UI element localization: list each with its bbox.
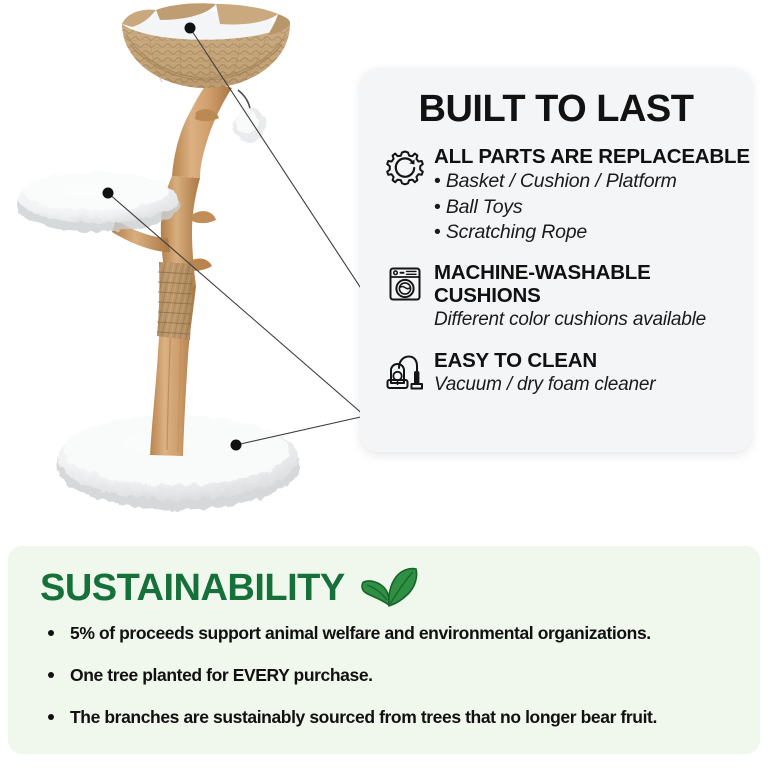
feature-text: MACHINE-WASHABLE CUSHIONS Different colo… xyxy=(434,262,752,332)
washing-machine-icon xyxy=(382,264,428,310)
gear-replace-icon xyxy=(382,148,428,194)
built-to-last-card: BUILT TO LAST ALL PARTS ARE REPLACEABLE … xyxy=(360,68,752,452)
sublist-item: Ball Toys xyxy=(434,195,750,221)
sustainability-title: SUSTAINABILITY xyxy=(40,569,345,607)
vacuum-cleaner-icon xyxy=(382,352,428,398)
feature-machine-washable-cushions: MACHINE-WASHABLE CUSHIONS Different colo… xyxy=(382,262,752,332)
feature-easy-to-clean: EASY TO CLEAN Vacuum / dry foam cleaner xyxy=(382,350,752,398)
sustainability-bullet: The branches are sustainably sourced fro… xyxy=(48,707,760,728)
sustainability-bullets: 5% of proceeds support animal welfare an… xyxy=(8,623,760,728)
feature-subtitle: Different color cushions available xyxy=(434,308,752,332)
callout-dot-cushion xyxy=(103,188,114,199)
sublist-item: Scratching Rope xyxy=(434,220,750,246)
feature-subtitle: Vacuum / dry foam cleaner xyxy=(434,373,655,397)
callout-dot-base xyxy=(231,440,242,451)
sustainability-panel: SUSTAINABILITY 5% of proceeds support an… xyxy=(8,546,760,754)
feature-heading: EASY TO CLEAN xyxy=(434,350,655,373)
sustainability-bullet: 5% of proceeds support animal welfare an… xyxy=(48,623,760,644)
callout-dot-basket xyxy=(185,23,196,34)
sustainability-header: SUSTAINABILITY xyxy=(40,562,760,613)
product-image xyxy=(0,0,370,530)
built-to-last-title: BUILT TO LAST xyxy=(360,90,752,128)
feature-sublist: Basket / Cushion / Platform Ball Toys Sc… xyxy=(434,169,750,246)
trunk-top xyxy=(172,82,232,178)
feature-text: ALL PARTS ARE REPLACEABLE Basket / Cushi… xyxy=(434,146,750,246)
feature-heading: MACHINE-WASHABLE CUSHIONS xyxy=(434,262,752,308)
feature-heading: ALL PARTS ARE REPLACEABLE xyxy=(434,146,750,169)
leaves-icon xyxy=(359,566,421,613)
feature-all-parts-replaceable: ALL PARTS ARE REPLACEABLE Basket / Cushi… xyxy=(382,146,752,246)
feature-text: EASY TO CLEAN Vacuum / dry foam cleaner xyxy=(434,350,655,397)
infographic-canvas: BUILT TO LAST ALL PARTS ARE REPLACEABLE … xyxy=(0,0,768,768)
sublist-item: Basket / Cushion / Platform xyxy=(434,169,750,195)
hanging-pom-pom-ball xyxy=(233,90,267,142)
white-platform-cushion xyxy=(16,172,180,232)
woven-basket-top xyxy=(122,3,290,88)
sustainability-bullet: One tree planted for EVERY purchase. xyxy=(48,665,760,686)
sisal-rope-wrap xyxy=(157,262,193,340)
